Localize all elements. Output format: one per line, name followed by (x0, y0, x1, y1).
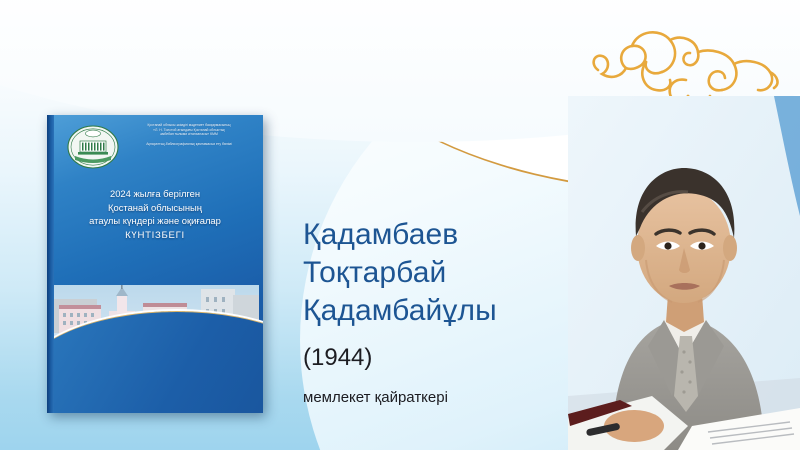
book-header-text: Қостанай облысы әкімдігі мәдениет басқар… (123, 123, 255, 146)
person-birth-year: (1944) (303, 344, 372, 372)
slide-canvas: Қостанай облысы әкімдігі мәдениет басқар… (0, 0, 800, 450)
book-header-line: Ақпараттық-библиографиялық қамтамасыз ет… (123, 142, 255, 147)
kazakh-gold-ornament-icon (588, 18, 788, 108)
book-title-line: Қостанай облысының (51, 201, 259, 215)
book-cover: Қостанай облысы әкімдігі мәдениет басқар… (47, 115, 263, 413)
person-name-line: Қадамбаев (303, 216, 603, 254)
person-name-block: Қадамбаев Тоқтарбай Қадамбайұлы (303, 216, 603, 330)
person-name-line: Қадамбайұлы (303, 292, 603, 330)
book-title-line: 2024 жылға берілген (51, 187, 259, 201)
book-title-main: КҮНТІЗБЕГІ (51, 228, 259, 243)
person-name-line: Тоқтарбай (303, 254, 603, 292)
person-role: мемлекет қайраткері (303, 388, 448, 407)
book-bottom-swoosh (47, 311, 263, 413)
book-title-text: 2024 жылға берілген Қостанай облысының а… (51, 187, 259, 242)
book-spine-edge (47, 115, 54, 413)
library-emblem-icon (66, 123, 120, 171)
book-title-line: атаулы күндері және оқиғалар (51, 214, 259, 228)
